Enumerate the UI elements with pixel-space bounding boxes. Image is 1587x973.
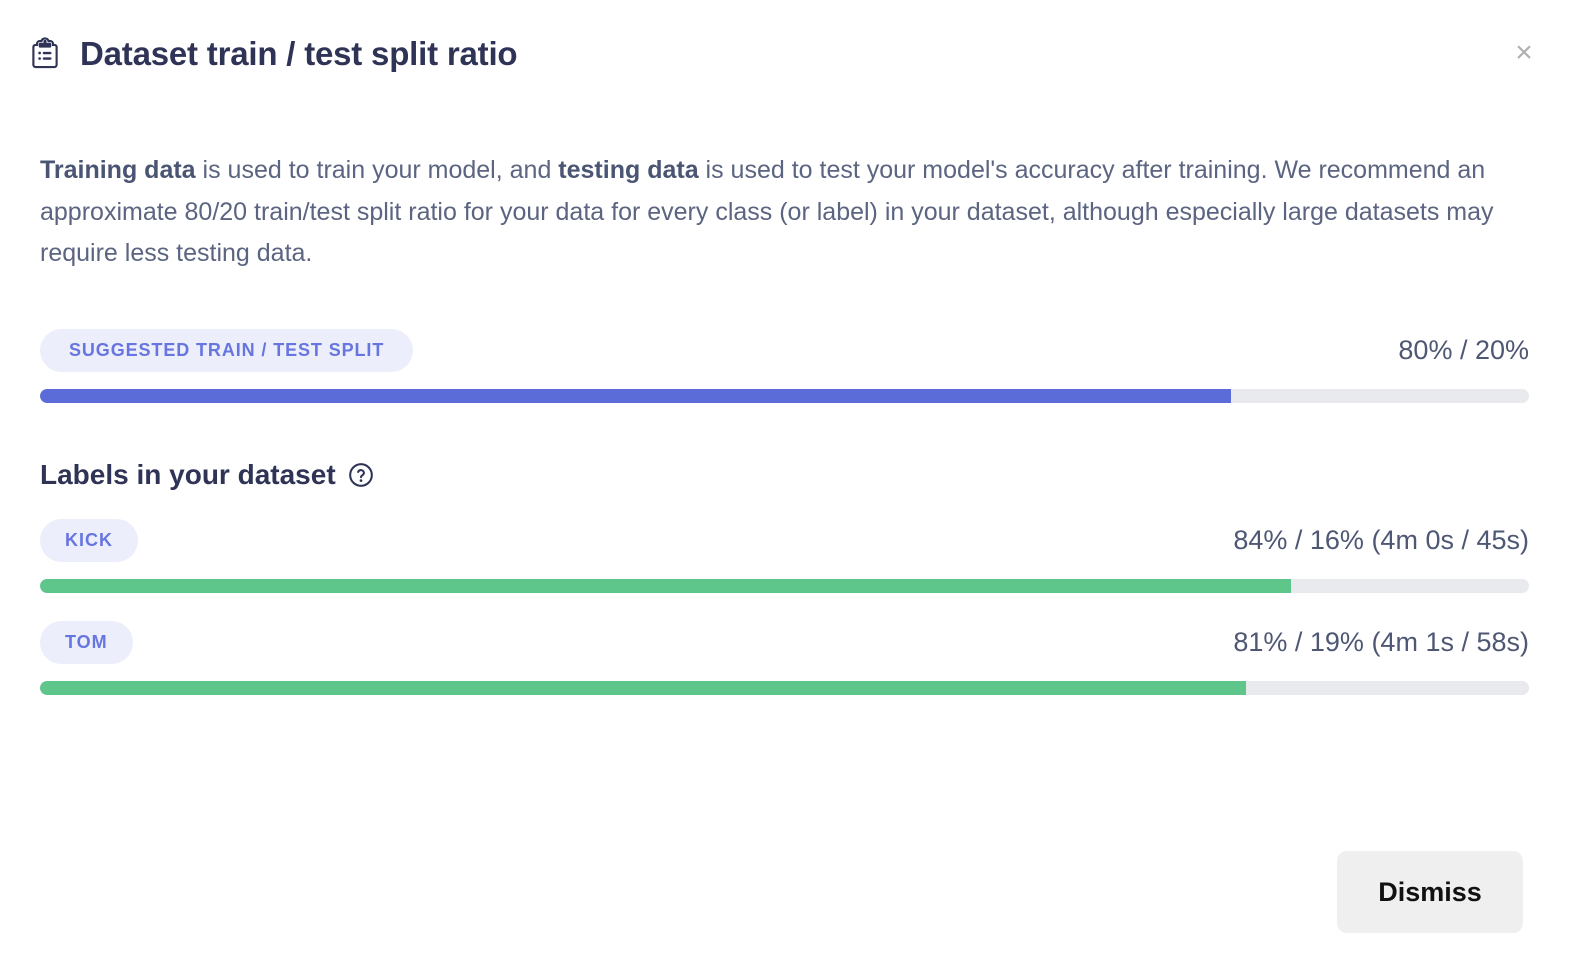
intro-training-data-term: Training data [40,156,196,184]
suggested-split-value: 80% / 20% [1398,335,1529,366]
label-row-tom-value: 81% / 19% (4m 1s / 58s) [1233,627,1529,658]
intro-testing-data-term: testing data [558,156,698,184]
status-badge-tom: TOM [40,621,133,664]
label-row-tom: TOM 81% / 19% (4m 1s / 58s) [40,621,1529,695]
dismiss-button[interactable]: Dismiss [1337,851,1523,933]
label-row-kick-bar-fill [40,579,1291,593]
page-title: Dataset train / test split ratio [80,35,517,73]
label-row-tom-bar-fill [40,681,1246,695]
label-row-kick-value: 84% / 16% (4m 0s / 45s) [1233,525,1529,556]
labels-section-heading: Labels in your dataset [40,459,1529,491]
dataset-split-dialog: Dataset train / test split ratio × Train… [0,0,1587,973]
dialog-footer: Dismiss [1337,851,1523,933]
dialog-header: Dataset train / test split ratio × [0,0,1587,108]
suggested-split-bar-fill [40,389,1231,403]
label-row-tom-header: TOM 81% / 19% (4m 1s / 58s) [40,621,1529,664]
clipboard-list-icon [28,37,62,71]
intro-paragraph: Training data is used to train your mode… [40,150,1529,275]
label-row-tom-bar-track [40,681,1529,695]
status-badge-suggested-split: SUGGESTED TRAIN / TEST SPLIT [40,329,413,372]
suggested-split-row-header: SUGGESTED TRAIN / TEST SPLIT 80% / 20% [40,329,1529,372]
suggested-split-bar-track [40,389,1529,403]
intro-text-part2: is used to train your model, and [196,156,559,184]
labels-section-title: Labels in your dataset [40,459,336,491]
close-icon[interactable]: × [1507,36,1541,70]
status-badge-kick: KICK [40,519,138,562]
suggested-split-row: SUGGESTED TRAIN / TEST SPLIT 80% / 20% [40,329,1529,403]
label-row-kick-header: KICK 84% / 16% (4m 0s / 45s) [40,519,1529,562]
label-row-kick: KICK 84% / 16% (4m 0s / 45s) [40,519,1529,593]
question-circle-icon[interactable] [348,462,374,488]
dialog-title-group: Dataset train / test split ratio [28,35,517,73]
dialog-body: Training data is used to train your mode… [40,150,1529,695]
label-row-kick-bar-track [40,579,1529,593]
